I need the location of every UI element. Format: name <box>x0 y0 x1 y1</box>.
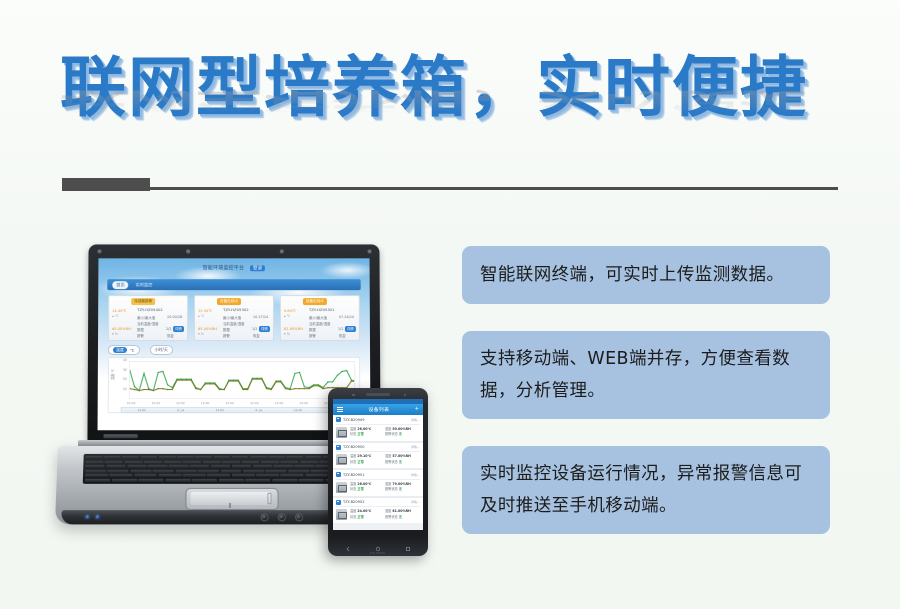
keyboard-key[interactable] <box>140 456 157 459</box>
temp-icon: ▴ ℃ <box>198 314 205 318</box>
card-val-minmax: 20.00/28 <box>167 315 182 319</box>
chart-filter-row: 温度 ℃ 小时/天 <box>108 345 173 355</box>
chart-timeline-scrollbar[interactable]: 13:006. Jul13:008. Jul12:009. Jul <box>121 407 358 413</box>
keyboard-key[interactable] <box>288 470 309 473</box>
phone-app-header: 设备列表 + <box>333 404 423 415</box>
keyboard-key[interactable] <box>220 470 241 473</box>
metric-grid: 温度 26.00℃湿度 79.00%RH状态 正常报警状态 无 <box>350 482 420 493</box>
list-item[interactable]: TZY-B20949详情…温度 26.00℃湿度 50.00%RH状态 正常报警… <box>333 415 423 441</box>
chart-data-point <box>181 379 182 380</box>
page-title: 联网型培养箱，实时便捷 <box>60 48 808 128</box>
humidity-icon: ▾ % <box>198 332 204 336</box>
list-item-body: 温度 26.00℃湿度 79.00%RH状态 正常报警状态 无 <box>336 482 420 493</box>
metric-alarm: 报警状态 无 <box>385 432 420 438</box>
keyboard-key[interactable] <box>272 479 297 482</box>
phone-device: 设备列表 + TZY-B20949详情…温度 26.00℃湿度 50.00%RH… <box>328 388 428 556</box>
chart-data-point <box>134 389 135 390</box>
filter-chip-tag: 温度 <box>113 347 127 353</box>
chart-data-point <box>209 383 210 384</box>
chart-data-point <box>346 370 347 371</box>
chart-data-point <box>172 389 173 390</box>
chart-data-point <box>294 373 295 374</box>
keyboard-key[interactable] <box>144 460 162 463</box>
chart-data-point <box>143 389 144 390</box>
metric-value: 50.00%RH <box>392 427 410 431</box>
keyboard-key[interactable] <box>112 479 137 482</box>
keyboard-key[interactable] <box>85 470 106 473</box>
device-thumbnail-icon <box>336 509 347 520</box>
chart-y-ticks: 40302010 <box>115 360 127 400</box>
metric-grid: 温度 26.00℃湿度 50.00%RH状态 正常报警状态 无 <box>350 427 420 438</box>
keyboard-key[interactable] <box>298 479 323 482</box>
metric-value: 无 <box>399 460 402 464</box>
keyboard-key[interactable] <box>245 479 270 482</box>
proximity-sensor-icon <box>404 394 407 397</box>
chart-x-ticks: 12:0012:0012:0012:0012:0012:0012:0012:00… <box>127 401 358 405</box>
keyboard-key[interactable] <box>127 465 146 468</box>
chart-data-point <box>252 378 253 379</box>
keyboard-key[interactable] <box>122 456 139 459</box>
list-item-header: TZY-B20951详情… <box>336 472 420 480</box>
status-badge: 传感器报警 <box>131 298 155 305</box>
temperature-value: 9.80℃ <box>284 306 296 314</box>
chart-data-point <box>313 385 314 386</box>
keyboard-key[interactable] <box>198 470 219 473</box>
status-leds <box>86 515 99 518</box>
chart-data-point <box>304 388 305 389</box>
keyboard-key[interactable] <box>203 460 221 463</box>
chart-x-tick: 12:00 <box>201 401 210 405</box>
filter-chip-temperature[interactable]: 温度 ℃ <box>108 345 140 355</box>
metric-value: 正常 <box>357 515 363 519</box>
keyboard-key[interactable] <box>195 456 212 459</box>
keyboard-key[interactable] <box>281 474 304 477</box>
keyboard-key[interactable] <box>177 456 194 459</box>
lid-vent <box>104 434 138 438</box>
temperature-value: 14.40℃ <box>112 306 126 314</box>
keyboard-key[interactable] <box>85 474 108 477</box>
keyboard-key[interactable] <box>274 465 293 468</box>
card-val-data: 1/2 <box>252 327 257 331</box>
metric-value: 29.10℃ <box>357 454 371 458</box>
card-val-minmax: 07.24/14 <box>339 315 354 319</box>
list-item-header: TZY-B20952详情… <box>336 500 420 508</box>
card-key-data: 数据 <box>309 327 316 332</box>
keyboard-key[interactable] <box>266 470 287 473</box>
chart-data-point <box>351 380 352 381</box>
list-item-body: 温度 24.00℃湿度 61.00%RH状态 正常报警状态 无 <box>336 509 420 520</box>
chart-data-point <box>318 385 319 386</box>
device-flag-icon <box>336 445 341 450</box>
app-toolbar: 首页 实时监控 <box>107 279 360 290</box>
filter-chip-range[interactable]: 小时/天 <box>149 345 172 355</box>
list-item[interactable]: TZY-B20952详情…温度 24.00℃湿度 61.00%RH状态 正常报警… <box>333 498 423 524</box>
chart-x-tick: 12:00 <box>225 401 234 405</box>
chart-data-point <box>228 380 229 381</box>
chart-data-point <box>289 389 290 390</box>
card-key-alarm: 报警 <box>223 333 230 338</box>
metric-grid: 温度 24.00℃湿度 61.00%RH状态 正常报警状态 无 <box>350 509 420 520</box>
keyboard-key[interactable] <box>109 474 132 477</box>
keyboard-key[interactable] <box>261 460 279 463</box>
card-detail-button[interactable]: 详情 <box>173 326 184 332</box>
chart-data-point <box>327 387 328 388</box>
keyboard-key[interactable] <box>86 456 103 459</box>
metric-value: 正常 <box>357 487 363 491</box>
keyboard-key[interactable] <box>305 474 328 477</box>
touchpad-scroll-strip[interactable] <box>267 493 271 504</box>
metric-value: 26.00℃ <box>357 482 371 486</box>
chart-data-point <box>205 383 206 384</box>
device-flag-icon <box>336 417 341 422</box>
card-key-minmax: 最小/最大值 <box>309 315 327 320</box>
chart-data-point <box>266 388 267 389</box>
metric-value: 26.00℃ <box>357 427 371 431</box>
keyboard-key[interactable] <box>281 460 299 463</box>
keyboard-key[interactable] <box>295 465 314 468</box>
chart-y-tick: 30 <box>123 368 127 372</box>
toolbar-link-monitor[interactable]: 实时监控 <box>136 282 153 288</box>
divider <box>62 178 838 192</box>
keyboard-key[interactable] <box>85 460 103 463</box>
card-key-current: 当前温度/湿度 <box>223 321 244 326</box>
list-item[interactable]: TZY-B20951详情…温度 26.00℃湿度 79.00%RH状态 正常报警… <box>333 470 423 496</box>
chart-data-point <box>162 388 163 389</box>
detail-link[interactable]: 详情… <box>411 500 420 504</box>
chart-data-point <box>219 389 220 390</box>
list-item-header: TZY-B20950详情… <box>336 445 420 453</box>
keyboard-key[interactable] <box>232 465 251 468</box>
device-card[interactable]: 设备在线中 ▴ ℃ 15.50℃ ▾ % 65.00%RH TZY-HZ0530… <box>194 295 274 341</box>
keyboard-key[interactable] <box>108 470 129 473</box>
temp-icon: ▴ ℃ <box>112 314 119 318</box>
metric-label: 报警状态 <box>385 460 399 464</box>
chart-data-point <box>327 381 328 382</box>
front-camera-icon <box>352 394 355 397</box>
detail-link[interactable]: 详情… <box>411 418 420 422</box>
chart-data-point <box>214 383 215 384</box>
keyboard-key[interactable] <box>159 456 176 459</box>
device-name: TZY-HZ05302 <box>223 307 249 312</box>
add-icon[interactable]: + <box>415 407 419 412</box>
device-thumbnail-icon <box>336 454 347 465</box>
device-name: TZY-HZ05301 <box>309 307 335 312</box>
keyboard-key[interactable] <box>232 474 255 477</box>
humidity-value: 65.00%RH <box>112 324 131 332</box>
card-key-minmax: 最小/最大值 <box>223 315 241 320</box>
device-card-row: 传感器报警 ▴ ℃ 14.40℃ ▾ % 65.00%RH TZY-HZ0540… <box>108 295 360 341</box>
chart-data-point <box>299 372 300 373</box>
app-window-title: 智能环境监控平台 登录 <box>98 264 369 271</box>
metric-value: 无 <box>399 515 402 519</box>
metric-value: 57.00%RH <box>392 454 410 458</box>
detail-link[interactable]: 详情… <box>411 473 420 477</box>
chart-data-point <box>148 389 149 390</box>
phone-header-title: 设备列表 <box>369 406 390 413</box>
metric-value: 无 <box>399 432 402 436</box>
metric-status: 状态 正常 <box>350 460 385 466</box>
chart-data-point <box>322 388 323 389</box>
chart-data-point <box>186 379 187 380</box>
keyboard-key[interactable] <box>222 460 240 463</box>
keyboard-key[interactable] <box>85 479 110 482</box>
chart-data-point <box>143 373 144 374</box>
metric-alarm: 报警状态 无 <box>385 460 420 466</box>
feature-text-3: 实时监控设备运行情况，异常报警信息可及时推送至手机移动端。 <box>480 458 812 522</box>
earpiece-icon <box>366 393 390 396</box>
keyboard-key[interactable] <box>130 470 151 473</box>
keyboard-key[interactable] <box>175 470 196 473</box>
keyboard-key[interactable] <box>134 474 157 477</box>
phone-device-list[interactable]: TZY-B20949详情…温度 26.00℃湿度 50.00%RH状态 正常报警… <box>333 415 423 523</box>
keyboard-key[interactable] <box>165 479 190 482</box>
chart-x-tick: 12:00 <box>275 401 284 405</box>
keyboard-key[interactable] <box>169 465 188 468</box>
filter-chip-label: ℃ <box>130 347 135 352</box>
keyboard-key[interactable] <box>105 460 123 463</box>
chart-data-point <box>162 371 163 372</box>
menu-icon[interactable] <box>337 407 343 412</box>
keyboard-key[interactable] <box>250 456 267 459</box>
chart-data-point <box>280 381 281 382</box>
humidity-icon: ▾ % <box>284 332 290 336</box>
metric-value: 79.00%RH <box>392 482 410 486</box>
timeline-label: 13:00 <box>216 408 224 412</box>
keyboard-key[interactable] <box>213 456 230 459</box>
list-item-body: 温度 26.00℃湿度 50.00%RH状态 正常报警状态 无 <box>336 427 420 438</box>
metric-status: 状态 正常 <box>350 487 385 493</box>
device-card[interactable]: 设备在线中 ▴ ℃ 9.80℃ ▾ % 81.00%RH TZY-HZ05301… <box>280 295 360 341</box>
promo-banner: 联网型培养箱，实时便捷 联网型培养箱，实时便捷 智能联网终端，可实时上传监测数据… <box>0 0 900 609</box>
feature-text-2: 支持移动端、WEB端并存，方便查看数据，分析管理。 <box>480 343 812 407</box>
keyboard-key[interactable] <box>183 474 206 477</box>
trend-chart: 温度 ℃ 40302010 12:0012:0012:0012:0012:001… <box>108 357 361 413</box>
humidity-value: 65.00%RH <box>198 324 217 332</box>
chart-data-point <box>139 390 140 391</box>
card-key-current: 当前温度/湿度 <box>137 321 159 326</box>
divider-rule <box>150 187 838 190</box>
keyboard-key[interactable] <box>256 474 279 477</box>
keyboard-key[interactable] <box>268 456 285 459</box>
metric-status: 状态 正常 <box>350 432 385 438</box>
chart-x-tick: 12:00 <box>127 401 136 405</box>
metric-value: 61.00%RH <box>392 509 410 513</box>
list-item[interactable]: TZY-B20950详情…温度 29.10℃湿度 57.00%RH状态 正常报警… <box>333 443 423 469</box>
device-name: TZY-B20952 <box>343 500 411 504</box>
chart-y-tick: 40 <box>123 358 127 362</box>
humidity-icon: ▾ % <box>112 332 118 336</box>
chart-data-point <box>294 388 295 389</box>
chart-x-tick: 12:00 <box>250 401 259 405</box>
card-key-alarm: 报警 <box>309 333 316 338</box>
card-key-alarm: 报警 <box>137 333 144 338</box>
card-key-recover: 恢复 <box>167 333 174 338</box>
chart-data-point <box>242 389 243 390</box>
keyboard-key[interactable] <box>242 460 260 463</box>
lid-screws <box>88 249 379 257</box>
temp-icon: ▴ ℃ <box>284 314 291 318</box>
card-val-minmax: 10.27/24 <box>253 315 268 319</box>
chart-data-point <box>167 384 168 385</box>
audio-ports <box>260 513 303 521</box>
metric-alarm: 报警状态 无 <box>385 487 420 493</box>
keyboard-key[interactable] <box>153 470 174 473</box>
chart-plot-area <box>129 361 355 399</box>
phone-brand-label: HUAWEI <box>328 551 428 555</box>
metric-label: 报警状态 <box>385 487 399 491</box>
title-block: 联网型培养箱，实时便捷 联网型培养箱，实时便捷 <box>60 48 840 158</box>
chart-data-point <box>153 390 154 391</box>
chart-data-point <box>200 389 201 390</box>
metric-status: 状态 正常 <box>350 515 385 521</box>
chart-data-point <box>195 388 196 389</box>
keyboard-key[interactable] <box>148 465 167 468</box>
temperature-value: 15.50℃ <box>198 306 212 314</box>
keyboard-key[interactable] <box>190 465 209 468</box>
chart-data-point <box>233 380 234 381</box>
status-badge: 设备在线中 <box>303 298 327 305</box>
card-key-data: 数据 <box>137 327 144 332</box>
device-name: TZY-B20950 <box>343 445 411 449</box>
chart-data-point <box>341 371 342 372</box>
device-thumbnail-icon <box>336 427 347 438</box>
chart-x-tick: 12:00 <box>176 401 185 405</box>
device-name: TZY-B20951 <box>343 473 411 477</box>
chart-data-point <box>332 381 333 382</box>
timeline-label: 8. Jul <box>255 408 262 412</box>
laptop-touchpad[interactable] <box>185 488 278 510</box>
app-title-text: 智能环境监控平台 <box>203 265 244 271</box>
chart-data-point <box>285 388 286 389</box>
keyboard-key[interactable] <box>305 456 322 459</box>
chart-data-point <box>158 372 159 373</box>
keyboard-key[interactable] <box>207 474 230 477</box>
feature-text-1: 智能联网终端，可实时上传监测数据。 <box>480 259 784 291</box>
humidity-value: 81.00%RH <box>284 324 303 332</box>
chart-data-point <box>337 375 338 376</box>
chart-y-tick: 20 <box>123 377 127 381</box>
keyboard-key[interactable] <box>124 460 142 463</box>
chart-data-point <box>304 386 305 387</box>
chart-data-point <box>176 379 177 380</box>
home-button[interactable]: 首页 <box>112 281 128 289</box>
metric-grid: 温度 29.10℃湿度 57.00%RH状态 正常报警状态 无 <box>350 454 420 465</box>
keyboard-key[interactable] <box>192 479 217 482</box>
feature-box-3: 实时监控设备运行情况，异常报警信息可及时推送至手机移动端。 <box>462 446 830 534</box>
metric-value: 24.00℃ <box>357 509 371 513</box>
card-key-recover: 恢复 <box>339 333 346 338</box>
login-chip[interactable]: 登录 <box>250 265 265 271</box>
keyboard-key[interactable] <box>183 460 201 463</box>
chart-data-point <box>271 389 272 390</box>
status-badge: 设备在线中 <box>217 298 241 305</box>
card-key-recover: 恢复 <box>253 333 260 338</box>
device-flag-icon <box>336 472 341 477</box>
chart-data-point <box>256 378 257 379</box>
timeline-label: 6. Jul <box>177 408 184 412</box>
list-item-body: 温度 29.10℃湿度 57.00%RH状态 正常报警状态 无 <box>336 454 420 465</box>
feature-box-2: 支持移动端、WEB端并存，方便查看数据，分析管理。 <box>462 331 830 419</box>
chart-data-point <box>223 389 224 390</box>
device-name: TZY-HZ05402 <box>137 307 163 312</box>
metric-alarm: 报警状态 无 <box>385 515 420 521</box>
metric-value: 无 <box>399 487 402 491</box>
chart-data-point <box>157 388 158 389</box>
card-val-data: 1/2 <box>338 327 343 331</box>
list-item-header: TZY-B20949详情… <box>336 417 420 425</box>
card-key-minmax: 最小/最大值 <box>137 315 155 320</box>
phone-screen: 设备列表 + TZY-B20949详情…温度 26.00℃湿度 50.00%RH… <box>333 399 423 530</box>
keyboard-key[interactable] <box>232 456 249 459</box>
keyboard-key[interactable] <box>253 465 272 468</box>
keyboard-key[interactable] <box>300 460 318 463</box>
chart-data-point <box>275 381 276 382</box>
chart-svg <box>130 362 355 399</box>
keyboard-key[interactable] <box>243 470 264 473</box>
keyboard-key[interactable] <box>218 479 243 482</box>
metric-value: 正常 <box>357 460 363 464</box>
device-name: TZY-B20949 <box>343 418 411 422</box>
metric-value: 正常 <box>357 432 363 436</box>
chart-x-tick: 12:00 <box>151 401 160 405</box>
device-thumbnail-icon <box>336 482 347 493</box>
detail-link[interactable]: 详情… <box>411 445 420 449</box>
card-key-data: 数据 <box>223 327 230 332</box>
chart-data-point <box>308 388 309 389</box>
keyboard-key[interactable] <box>158 474 181 477</box>
chart-data-point <box>238 380 239 381</box>
chart-series-line <box>130 379 355 390</box>
keyboard-key[interactable] <box>138 479 163 482</box>
keyboard-key[interactable] <box>106 465 125 468</box>
filter-chip-range-label: 小时/天 <box>154 347 167 353</box>
timeline-label: 12:00 <box>294 408 302 412</box>
device-flag-icon <box>336 500 341 505</box>
card-val-data: 2/2 <box>166 327 171 331</box>
chart-data-point <box>190 379 191 380</box>
chart-data-point <box>167 389 168 390</box>
chart-data-point <box>247 389 248 390</box>
keyboard-key[interactable] <box>104 456 121 459</box>
divider-block <box>62 178 150 191</box>
metric-label: 报警状态 <box>385 432 399 436</box>
feature-box-1: 智能联网终端，可实时上传监测数据。 <box>462 246 830 304</box>
chart-data-point <box>134 386 135 387</box>
chart-data-point <box>261 378 262 379</box>
keyboard-key[interactable] <box>163 460 181 463</box>
card-key-current: 当前温度/湿度 <box>309 321 331 326</box>
keyboard-key[interactable] <box>287 456 304 459</box>
chart-x-tick: 12:00 <box>299 401 308 405</box>
touchpad-button-divider <box>229 503 231 508</box>
timeline-label: 13:00 <box>137 408 145 412</box>
chart-y-tick: 10 <box>123 387 127 391</box>
card-detail-button[interactable]: 详情 <box>259 326 270 332</box>
metric-label: 报警状态 <box>385 515 399 519</box>
card-detail-button[interactable]: 详情 <box>345 326 356 332</box>
device-card[interactable]: 传感器报警 ▴ ℃ 14.40℃ ▾ % 65.00%RH TZY-HZ0540… <box>108 295 188 341</box>
keyboard-key[interactable] <box>211 465 230 468</box>
keyboard-key[interactable] <box>85 465 105 468</box>
chart-data-point <box>299 388 300 389</box>
